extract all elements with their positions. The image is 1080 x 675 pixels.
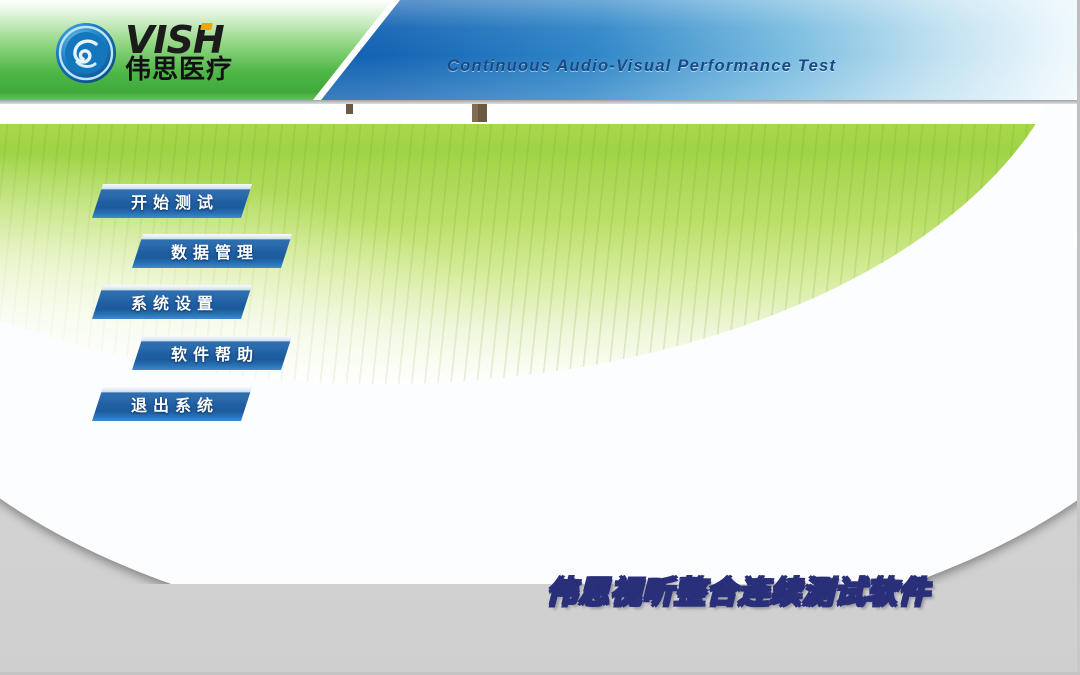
- menu-button-label: 退出系统: [125, 392, 219, 416]
- menu-button-label: 开始测试: [125, 189, 219, 213]
- product-title: 伟思视听整合连续测试软件: [546, 567, 930, 612]
- main-menu: 开始测试 数据管理 系统设置 软件帮助 退出系统: [0, 104, 520, 524]
- logo-chinese-name: 伟思医疗: [125, 55, 233, 83]
- menu-button-label: 软件帮助: [165, 341, 259, 365]
- menu-button-exit-system[interactable]: 退出系统: [92, 387, 252, 421]
- vish-emblem-icon: [55, 22, 117, 84]
- menu-button-start-test[interactable]: 开始测试: [92, 184, 252, 218]
- header-blue-section: [300, 0, 1080, 100]
- menu-button-label: 系统设置: [125, 290, 219, 314]
- logo-accent-icon: [200, 23, 213, 30]
- menu-button-label: 数据管理: [165, 239, 259, 263]
- brand-logo: VISH 伟思医疗: [55, 22, 305, 84]
- menu-button-data-management[interactable]: 数据管理: [132, 234, 292, 268]
- application-window: VISH: [0, 0, 1080, 675]
- menu-button-software-help[interactable]: 软件帮助: [132, 336, 292, 370]
- header-subtitle: Continuous Audio-Visual Performance Test: [447, 57, 836, 76]
- header-bar: VISH 伟思医疗 Continuous Audio-Visual Perfor…: [0, 0, 1080, 100]
- menu-button-system-settings[interactable]: 系统设置: [92, 285, 252, 319]
